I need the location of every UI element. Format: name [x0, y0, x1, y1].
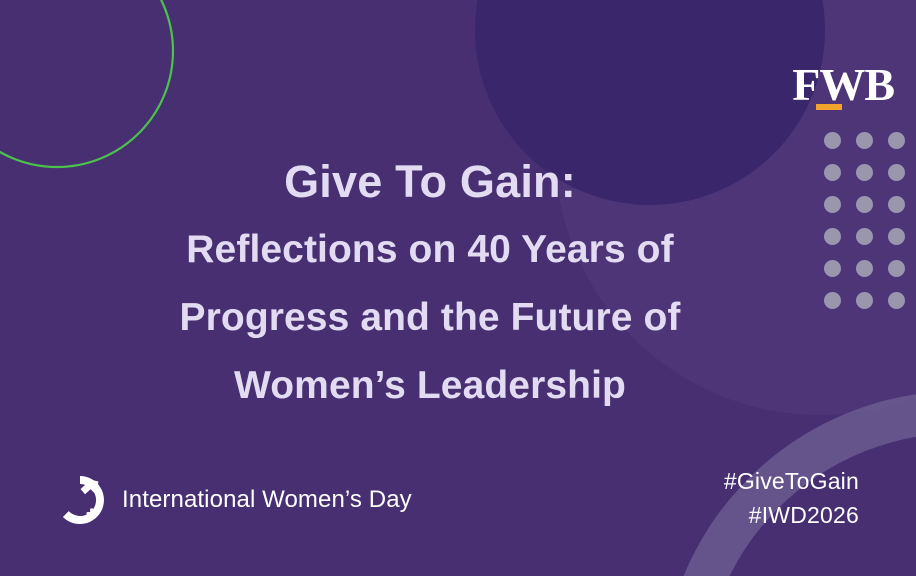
- grid-dot: [824, 292, 841, 309]
- grid-dot: [856, 292, 873, 309]
- fwb-logo: FWB: [792, 62, 894, 110]
- dot-grid-decoration: [824, 132, 916, 324]
- grid-dot: [888, 132, 905, 149]
- grid-dot: [888, 164, 905, 181]
- grid-dot: [856, 164, 873, 181]
- iwd-wordmark: International Women’s Day: [122, 486, 412, 514]
- slide-canvas: FWB Give To Gain: Reflections on 40 Year…: [0, 0, 916, 576]
- iwd-circular-arrow-venus-icon: [52, 472, 108, 528]
- grid-dot: [888, 292, 905, 309]
- international-womens-day-lockup: International Women’s Day: [52, 472, 412, 528]
- grid-dot: [824, 260, 841, 277]
- hashtag-primary: #GiveToGain: [724, 464, 859, 498]
- title-line-3: Progress and the Future of: [60, 284, 800, 352]
- title-line-4: Women’s Leadership: [60, 352, 800, 420]
- grid-dot: [824, 132, 841, 149]
- grid-dot: [824, 196, 841, 213]
- grid-dot: [888, 260, 905, 277]
- grid-dot: [824, 228, 841, 245]
- title-line-1: Give To Gain:: [60, 148, 800, 216]
- grid-dot: [824, 164, 841, 181]
- grid-dot: [856, 196, 873, 213]
- fwb-wordmark: FWB: [792, 62, 894, 108]
- page-title: Give To Gain: Reflections on 40 Years of…: [60, 148, 800, 420]
- grid-dot: [856, 228, 873, 245]
- title-line-2: Reflections on 40 Years of: [60, 216, 800, 284]
- grid-dot: [888, 196, 905, 213]
- grid-dot: [856, 260, 873, 277]
- grid-dot: [888, 228, 905, 245]
- hashtag-block: #GiveToGain #IWD2026: [724, 464, 859, 532]
- grid-dot: [856, 132, 873, 149]
- hashtag-secondary: #IWD2026: [724, 498, 859, 532]
- green-circle-outline: [0, 0, 173, 167]
